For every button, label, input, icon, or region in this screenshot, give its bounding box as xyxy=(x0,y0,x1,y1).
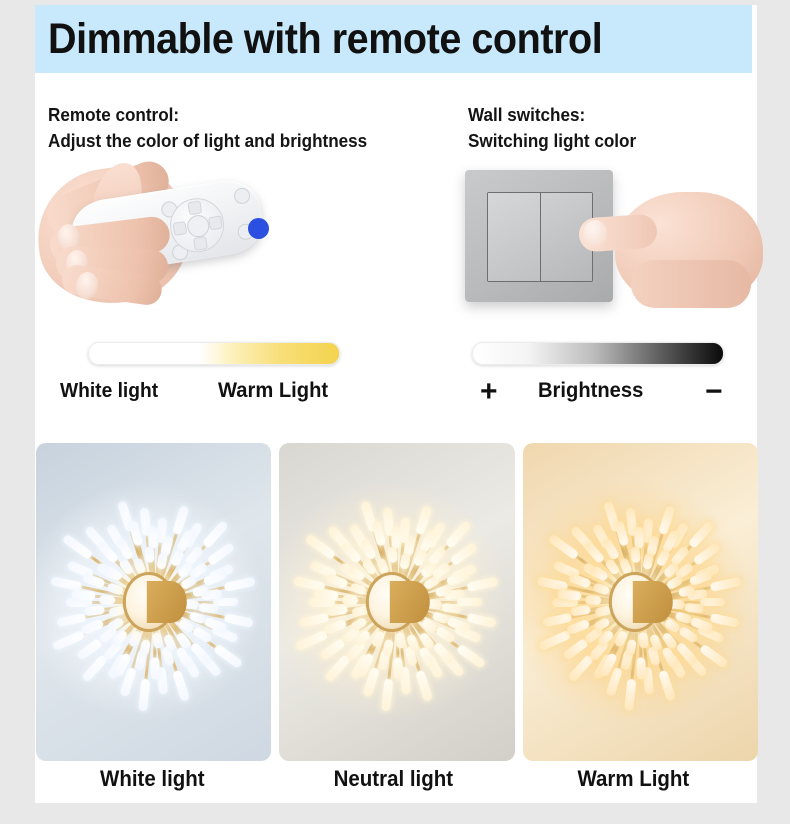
color-bar-left-label: White light xyxy=(60,380,158,403)
caption-neutral: Neutral light xyxy=(285,766,501,804)
dpad-center xyxy=(186,214,211,239)
color-bar-right-label: Warm Light xyxy=(218,379,328,403)
brightness-increase-label: + xyxy=(480,375,498,409)
wall-section-text: Wall switches: Switching light color xyxy=(468,102,645,154)
caption-white: White light xyxy=(44,766,260,804)
dpad-up xyxy=(187,200,202,215)
wall-description: Switching light color xyxy=(468,128,636,154)
hand-pressing-switch xyxy=(573,174,773,324)
caption-warm: Warm Light xyxy=(525,766,741,804)
product-photo-neutral xyxy=(279,443,514,761)
brightness-decrease-label: − xyxy=(705,375,723,409)
dpad-right xyxy=(208,215,223,230)
remote-section-text: Remote control: Adjust the color of ligh… xyxy=(48,102,384,154)
dpad-down xyxy=(193,236,208,251)
dpad-left xyxy=(172,221,187,236)
header-banner: Dimmable with remote control xyxy=(35,5,752,73)
product-gallery xyxy=(36,443,758,763)
wall-switch-photo xyxy=(455,160,775,325)
knuckles xyxy=(631,260,751,308)
remote-control-photo xyxy=(36,160,356,320)
wifi-signal-icon xyxy=(244,174,352,282)
product-photo-white xyxy=(36,443,271,761)
signal-arc-outer xyxy=(270,176,366,304)
hand-holding-remote xyxy=(36,160,276,315)
brightness-label: Brightness xyxy=(538,379,643,403)
lamp-cone xyxy=(146,581,186,623)
brightness-bar[interactable] xyxy=(472,342,724,365)
fingernail xyxy=(583,220,607,246)
lamp-cone xyxy=(633,581,673,623)
product-infographic: Dimmable with remote control Remote cont… xyxy=(0,0,790,824)
lamp-cone xyxy=(390,581,430,623)
switch-rocker-left xyxy=(488,193,541,281)
remote-heading: Remote control: xyxy=(48,102,367,128)
page-title: Dimmable with remote control xyxy=(48,15,602,64)
gallery-captions: White light Neutral light Warm Light xyxy=(36,766,758,804)
remote-description: Adjust the color of light and brightness xyxy=(48,128,367,154)
product-photo-warm xyxy=(523,443,758,761)
wall-heading: Wall switches: xyxy=(468,102,636,128)
color-temperature-bar[interactable] xyxy=(88,342,340,365)
